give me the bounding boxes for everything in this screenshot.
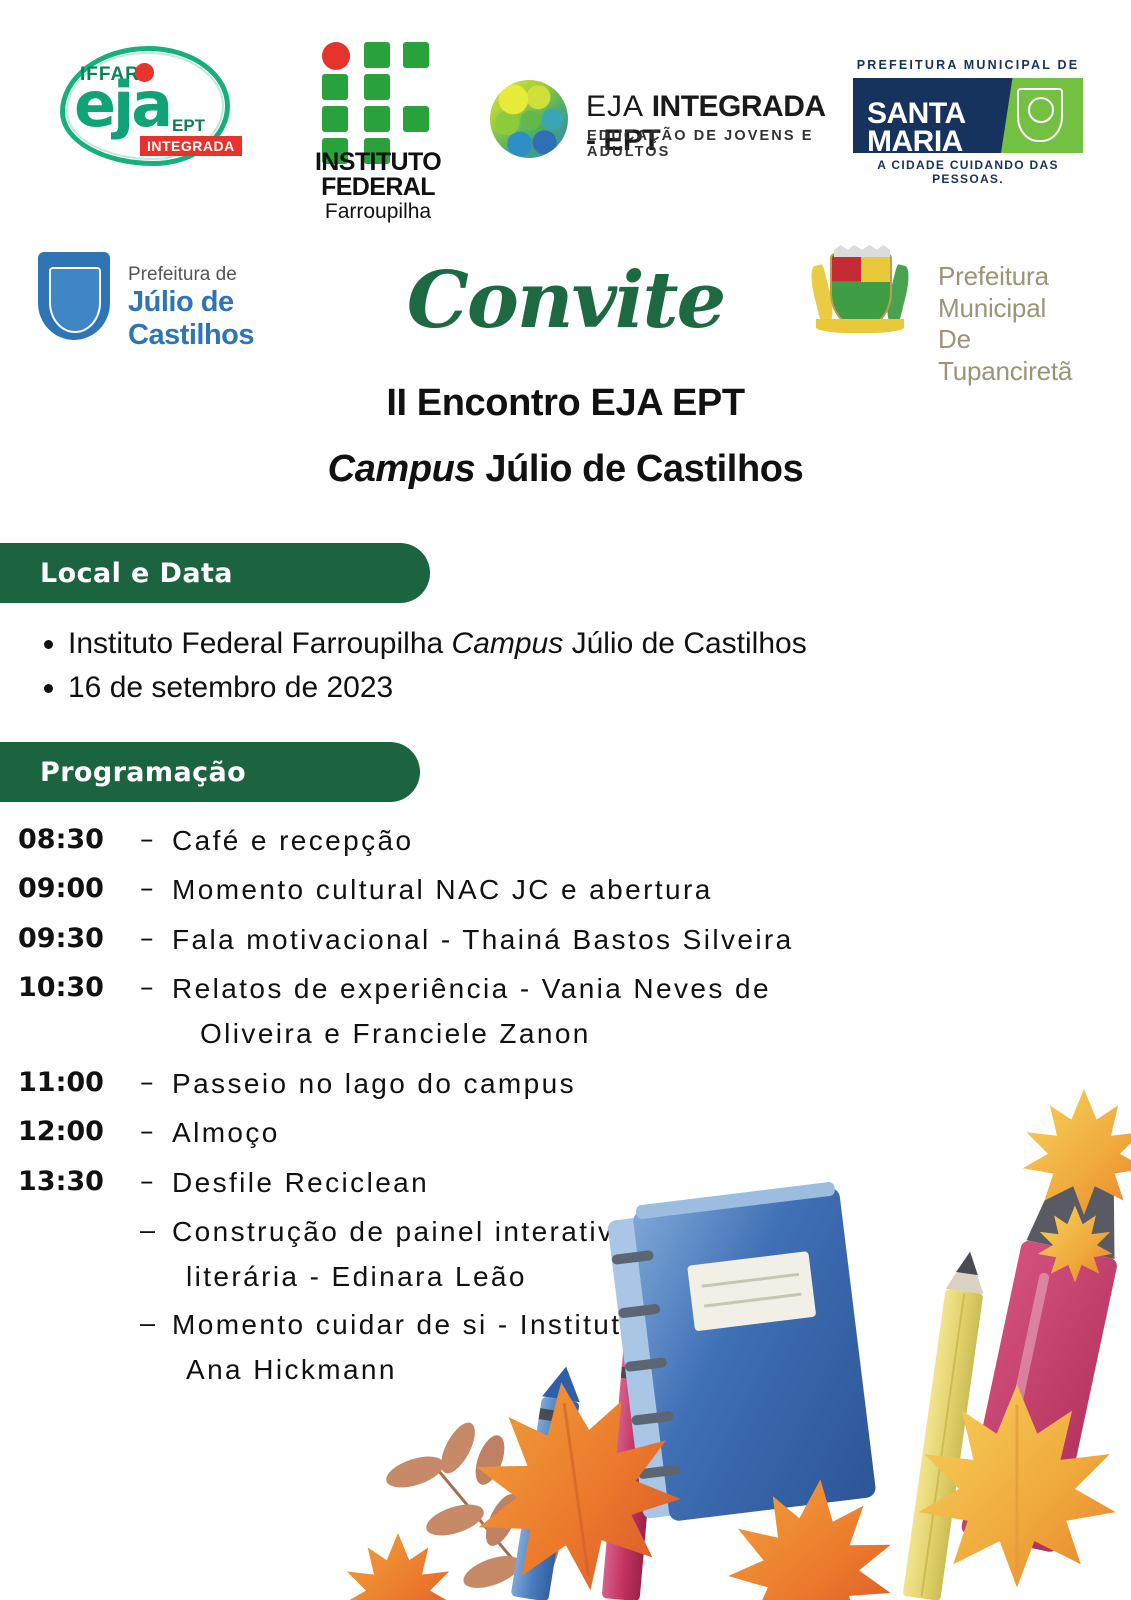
local-item-0-italic: Campus	[452, 627, 564, 660]
schedule-time: 12:00	[18, 1110, 140, 1154]
subtitle-rest: Júlio de Castilhos	[475, 448, 803, 490]
list-item: Instituto Federal Farroupilha Campus Júl…	[68, 622, 1068, 666]
santa-maria-crest-icon	[1017, 88, 1063, 142]
local-item-1-pre: 16 de setembro de 2023	[68, 671, 393, 704]
schedule-desc: Passeio no lago do campus	[172, 1061, 1078, 1106]
santa-maria-box: SANTA MARIA	[853, 78, 1083, 153]
sm-name-line2: MARIA	[867, 125, 963, 158]
local-e-data-list: Instituto Federal Farroupilha Campus Júl…	[40, 622, 1068, 709]
schedule-desc: Relatos de experiência - Vania Neves de …	[172, 966, 1078, 1057]
schedule-row: 09:30 – Fala motivacional - Thainá Basto…	[18, 917, 1078, 962]
banner-label-programacao: Programação	[40, 757, 246, 788]
brown-branch-icon	[382, 1418, 565, 1595]
section-banner-programacao: Programação	[0, 742, 420, 802]
schedule-subrow-desc-main: Momento cuidar de si - Instituto	[172, 1309, 639, 1340]
instituto-federal-campus: Farroupilha	[288, 200, 468, 224]
schedule-subrow-desc: Construção de painel interativo com escr…	[172, 1209, 1078, 1300]
schedule-time: 09:30	[18, 917, 140, 961]
schedule-row: 11:00 – Passeio no lago do campus	[18, 1061, 1078, 1106]
banner-label-local: Local e Data	[40, 558, 233, 589]
schedule-desc: Almoço	[172, 1110, 1078, 1155]
page-subtitle: Campus Júlio de Castilhos	[0, 448, 1131, 491]
eja-integrada-ept-logo: EJA INTEGRADA - EPT EDUCAÇÃO DE JOVENS E…	[490, 78, 835, 160]
schedule-subrow: – Construção de painel interativo com es…	[18, 1209, 1078, 1300]
schedule-subrow-dash: –	[140, 1302, 172, 1346]
blue-crayon-icon	[511, 1364, 585, 1600]
schedule-desc: Momento cultural NAC JC e abertura	[172, 867, 1078, 912]
schedule-desc: Desfile Reciclean	[172, 1160, 1078, 1205]
schedule-desc-main: Relatos de experiência - Vania Neves de	[172, 973, 771, 1004]
instituto-federal-logo: INSTITUTO FEDERAL Farroupilha	[288, 42, 468, 207]
santa-maria-slogan: A CIDADE CUIDANDO DAS PESSOAS.	[853, 158, 1083, 186]
local-item-0-post: Júlio de Castilhos	[563, 627, 806, 660]
schedule-time: 09:00	[18, 867, 140, 911]
invitation-poster: IFFAR eja EPT INTEGRADA INSTITUTO	[0, 0, 1131, 1600]
schedule-time: 11:00	[18, 1061, 140, 1105]
schedule-dash: –	[140, 966, 172, 1010]
schedule-subrow-desc-main: Construção de painel interativo com escr…	[172, 1216, 812, 1247]
iffar-eja-integrada-logo: IFFAR eja EPT INTEGRADA	[52, 42, 242, 172]
schedule-dash: –	[140, 1160, 172, 1204]
if-name-line2: FEDERAL	[321, 173, 435, 201]
instituto-federal-name: INSTITUTO FEDERAL	[288, 150, 468, 199]
schedule-dash: –	[140, 917, 172, 961]
schedule-row: 12:00 – Almoço	[18, 1110, 1078, 1155]
eja-integrada-badge: INTEGRADA	[140, 136, 242, 156]
list-item: 16 de setembro de 2023	[68, 666, 1068, 710]
schedule-row: 10:30 – Relatos de experiência - Vania N…	[18, 966, 1078, 1057]
convite-script-title: Convite	[0, 255, 1131, 346]
schedule-time: 13:30	[18, 1160, 140, 1204]
subtitle-campus-word: Campus	[328, 448, 476, 490]
instituto-federal-grid-icon	[322, 42, 432, 147]
globe-icon	[490, 80, 568, 158]
schedule-subrow: – Momento cuidar de si - Instituto Ana H…	[18, 1302, 1078, 1393]
schedule-dash: –	[140, 867, 172, 911]
eja-wordmark: eja	[74, 74, 170, 136]
maple-leaf-icon	[722, 1471, 902, 1600]
santa-maria-name: SANTA MARIA	[867, 100, 966, 155]
schedule-dash: –	[140, 818, 172, 862]
schedule-dash: –	[140, 1110, 172, 1154]
schedule-subrow-desc-continuation: literária - Edinara Leão	[172, 1254, 1078, 1299]
eja-ept-label: EPT	[172, 116, 205, 136]
section-banner-local-e-data: Local e Data	[0, 543, 430, 603]
schedule-subrow-desc: Momento cuidar de si - Instituto Ana Hic…	[172, 1302, 1078, 1393]
page-title: II Encontro EJA EPT	[0, 382, 1131, 425]
maple-leaf-icon	[460, 1368, 691, 1600]
prefeitura-santa-maria-logo: PREFEITURA MUNICIPAL DE SANTA MARIA A CI…	[853, 58, 1083, 183]
eja-title-light: EJA	[586, 90, 652, 123]
maple-leaf-icon	[918, 1385, 1115, 1588]
programacao-schedule: 08:30 – Café e recepção 09:00 – Momento …	[18, 818, 1078, 1394]
santa-maria-top-label: PREFEITURA MUNICIPAL DE	[853, 58, 1083, 72]
schedule-row: 09:00 – Momento cultural NAC JC e abertu…	[18, 867, 1078, 912]
schedule-subrow-dash: –	[140, 1209, 172, 1253]
schedule-time: 08:30	[18, 818, 140, 862]
schedule-dash: –	[140, 1061, 172, 1105]
local-item-0-pre: Instituto Federal Farroupilha	[68, 627, 452, 660]
schedule-desc: Café e recepção	[172, 818, 1078, 863]
logo-row-top: IFFAR eja EPT INTEGRADA INSTITUTO	[0, 0, 1131, 230]
schedule-desc-continuation: Oliveira e Franciele Zanon	[172, 1011, 1078, 1056]
schedule-row: 13:30 – Desfile Reciclean	[18, 1160, 1078, 1205]
schedule-desc: Fala motivacional - Thainá Bastos Silvei…	[172, 917, 1078, 962]
schedule-subrow-desc-continuation: Ana Hickmann	[172, 1347, 1078, 1392]
schedule-row: 08:30 – Café e recepção	[18, 818, 1078, 863]
eja-integrada-subtitle: EDUCAÇÃO DE JOVENS E ADULTOS	[587, 128, 835, 160]
schedule-time: 10:30	[18, 966, 140, 1010]
maple-leaf-icon	[344, 1533, 453, 1600]
